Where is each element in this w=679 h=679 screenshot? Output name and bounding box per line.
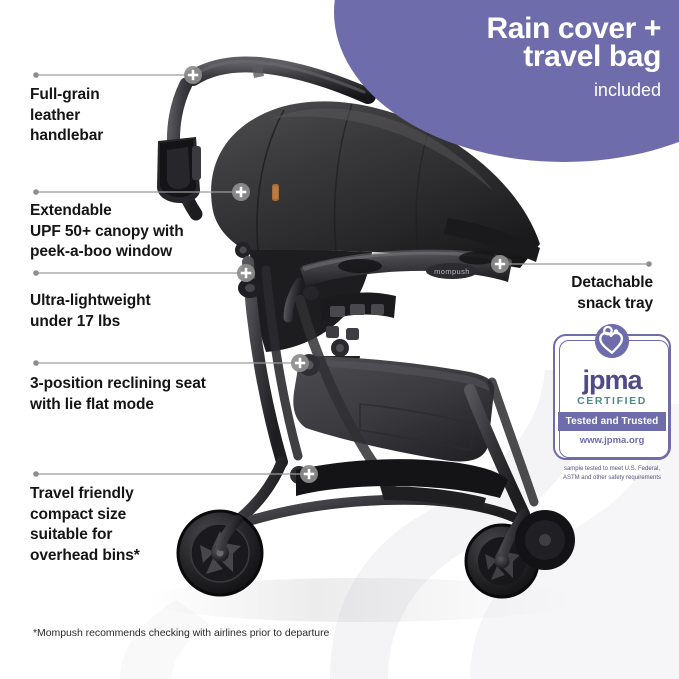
callout-text-extendable-upf-canopy: Extendable UPF 50+ canopy with peek-a-bo… <box>30 201 184 263</box>
callout-text-ultra-lightweight: Ultra-lightweight under 17 lbs <box>30 291 151 332</box>
callout-full-grain-leather-handlebar: Full-grain leather handlebar <box>30 85 103 147</box>
callout-detachable-snack-tray: Detachable snack tray <box>571 273 653 314</box>
callout-travel-friendly-compact-size: Travel friendly compact size suitable fo… <box>30 484 140 566</box>
callout-text-full-grain-leather-handlebar: Full-grain leather handlebar <box>30 85 103 147</box>
badge-line-3: included <box>594 80 661 101</box>
jpma-certified-label: CERTIFIED <box>553 395 671 407</box>
jpma-tested-bar: Tested and Trusted <box>558 412 666 431</box>
jpma-tested-text: Tested and Trusted <box>566 416 659 427</box>
jpma-fine-print: sample tested to meet U.S. Federal, ASTM… <box>553 465 671 482</box>
jpma-certified-badge: jpma CERTIFIED Tested and Trusted www.jp… <box>553 334 671 486</box>
badge-line-2: travel bag <box>523 40 661 74</box>
product-brand-label: mompush <box>434 267 470 276</box>
callout-ultra-lightweight: Ultra-lightweight under 17 lbs <box>30 291 151 332</box>
jpma-wordmark: jpma <box>553 367 671 394</box>
callout-text-three-position-reclining-seat: 3-position reclining seat with lie flat … <box>30 374 206 415</box>
callout-three-position-reclining-seat: 3-position reclining seat with lie flat … <box>30 374 206 415</box>
infographic-canvas: mompush <box>0 0 679 679</box>
callout-text-detachable-snack-tray: Detachable snack tray <box>571 273 653 314</box>
callout-extendable-upf-canopy: Extendable UPF 50+ canopy with peek-a-bo… <box>30 201 184 263</box>
callout-text-travel-friendly-compact-size: Travel friendly compact size suitable fo… <box>30 484 140 566</box>
jpma-url[interactable]: www.jpma.org <box>553 435 671 446</box>
footnote-text: *Mompush recommends checking with airlin… <box>33 627 329 639</box>
jpma-heart-logo-icon <box>594 323 630 359</box>
